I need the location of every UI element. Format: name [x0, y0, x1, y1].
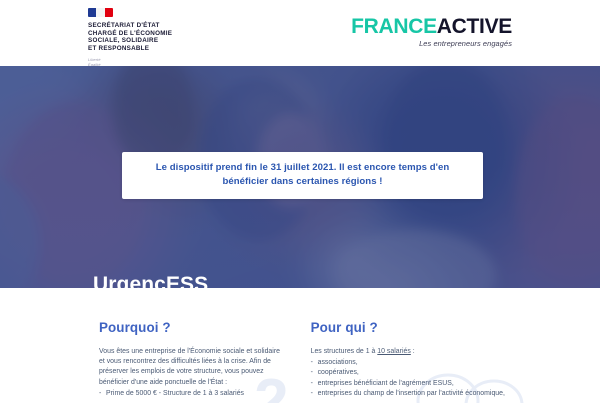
- list-item: entreprises du champ de l'insertion par …: [311, 389, 512, 399]
- site-header: SECRÉTARIAT D'ÉTAT CHARGÉ DE L'ÉCONOMIE …: [0, 0, 600, 66]
- column-pour-qui-title: Pour qui ?: [311, 320, 512, 336]
- column-pourquoi-list: Prime de 5000 € - Structure de 1 à 3 sal…: [99, 389, 283, 399]
- column-pour-qui-paragraph: Les structures de 1 à 10 salariés :: [311, 347, 512, 357]
- french-flag-icon: [88, 8, 113, 17]
- column-pour-qui: Pour qui ? Les structures de 1 à 10 sala…: [311, 320, 512, 399]
- page-root: SECRÉTARIAT D'ÉTAT CHARGÉ DE L'ÉCONOMIE …: [0, 0, 600, 403]
- announcement-banner-text: Le dispositif prend fin le 31 juillet 20…: [140, 161, 465, 189]
- content-section: 2 Pourquoi ? Vous êtes une entreprise de…: [0, 288, 600, 399]
- list-item: coopératives,: [311, 368, 512, 378]
- announcement-banner: Le dispositif prend fin le 31 juillet 20…: [122, 152, 483, 199]
- column-pour-qui-link[interactable]: 10 salariés: [377, 348, 411, 355]
- brand-name-part2: ACTIVE: [437, 15, 512, 38]
- france-active-logo[interactable]: FRANCEACTIVE Les entrepreneurs engagés: [351, 8, 512, 48]
- brand-tagline: Les entrepreneurs engagés: [351, 39, 512, 48]
- hero-copy: UrgencESS Le fonds dédié aux association…: [93, 273, 493, 288]
- france-active-wordmark: FRANCEACTIVE: [351, 16, 512, 37]
- hero-section: Le dispositif prend fin le 31 juillet 20…: [0, 66, 600, 288]
- column-pour-qui-paragraph-after: :: [411, 348, 415, 355]
- column-pour-qui-paragraph-before: Les structures de 1 à: [311, 348, 378, 355]
- column-pourquoi-title: Pourquoi ?: [99, 320, 283, 336]
- hero-title: UrgencESS: [93, 273, 493, 288]
- government-logo[interactable]: SECRÉTARIAT D'ÉTAT CHARGÉ DE L'ÉCONOMIE …: [88, 8, 172, 72]
- column-pourquoi-paragraph: Vous êtes une entreprise de l'Économie s…: [99, 347, 283, 388]
- list-item: associations,: [311, 358, 512, 368]
- list-item: Prime de 5000 € - Structure de 1 à 3 sal…: [99, 389, 283, 399]
- column-pourquoi: 2 Pourquoi ? Vous êtes une entreprise de…: [99, 320, 283, 399]
- column-pour-qui-list: associations, coopératives, entreprises …: [311, 358, 512, 399]
- list-item: entreprises bénéficiant de l'agrément ES…: [311, 379, 512, 389]
- government-logo-title: SECRÉTARIAT D'ÉTAT CHARGÉ DE L'ÉCONOMIE …: [88, 22, 172, 52]
- brand-name-part1: FRANCE: [351, 15, 437, 38]
